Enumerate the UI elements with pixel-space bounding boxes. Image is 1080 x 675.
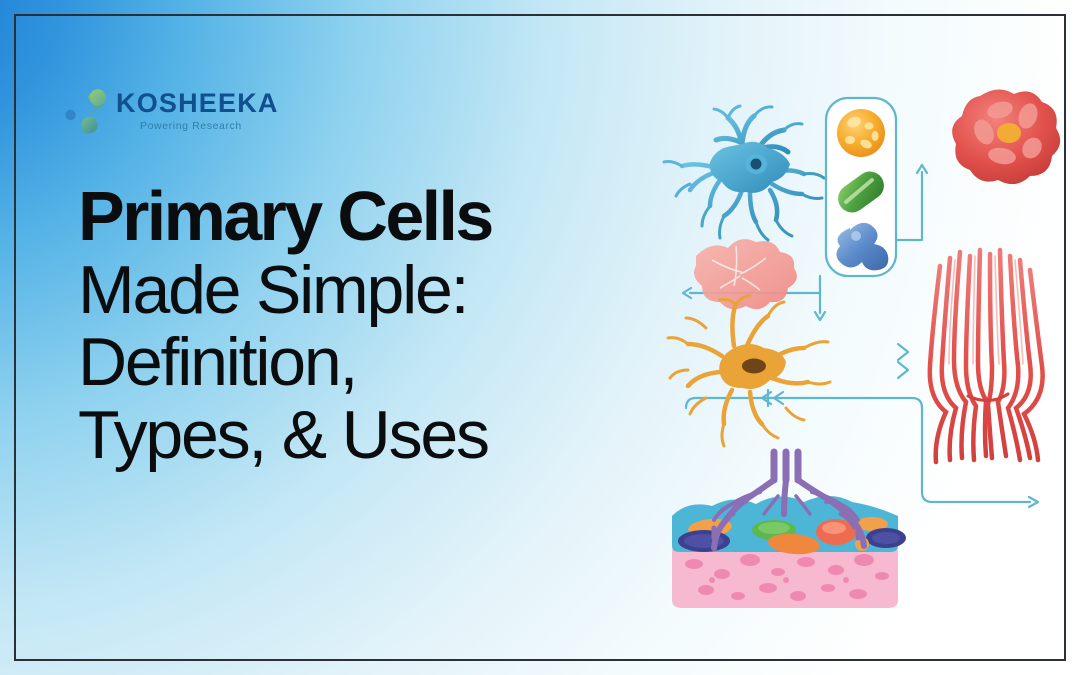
- kosheeka-logo[interactable]: KOSHEEKA Powering Research: [64, 88, 279, 134]
- pink-tissue-cluster: [694, 239, 797, 309]
- muscle-fiber-bundle: [930, 250, 1043, 462]
- orange-neuron-cell: [668, 296, 830, 446]
- cell-panel: [826, 98, 896, 276]
- page-title: Primary Cells Made Simple: Definition, T…: [78, 182, 492, 468]
- connector-panel-to-right: [895, 172, 922, 240]
- headline-line-3: Definition,: [78, 329, 492, 396]
- logo-text-group: KOSHEEKA Powering Research: [116, 90, 279, 132]
- connector-arrow-right-bottom: [922, 440, 1030, 502]
- blue-neuron-cell: [664, 106, 824, 240]
- logo-wordmark: KOSHEEKA: [116, 90, 279, 117]
- kosheeka-molecule-logo-icon: [64, 88, 108, 134]
- logo-tagline: Powering Research: [140, 121, 279, 132]
- red-lobed-cell: [952, 89, 1060, 184]
- epithelial-tissue-layer: [672, 452, 906, 608]
- banner-root: KOSHEEKA Powering Research Primary Cells…: [0, 0, 1080, 675]
- headline-line-2: Made Simple:: [78, 257, 492, 324]
- orange-round-cell: [837, 109, 885, 157]
- connector-chevron-up-b: [898, 362, 908, 378]
- cell-illustration: [650, 60, 1070, 620]
- headline-line-4: Types, & Uses: [78, 402, 492, 469]
- connector-chevron-up-a: [898, 344, 908, 360]
- headline-line-1: Primary Cells: [78, 182, 492, 251]
